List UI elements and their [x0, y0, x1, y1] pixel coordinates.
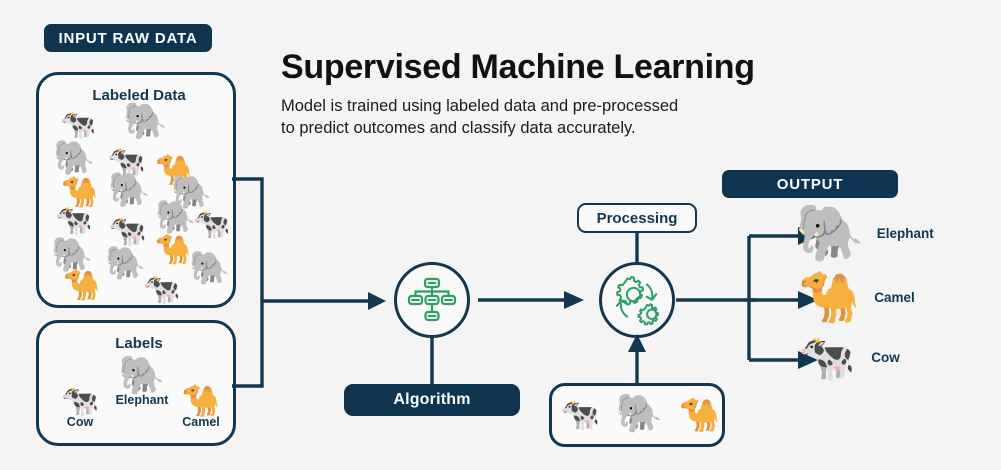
output-item-elephant-label: Elephant [877, 226, 934, 241]
label-item-cow-label: Cow [45, 415, 115, 429]
cow-icon: 🐄 [143, 275, 180, 305]
gears-icon [609, 272, 665, 328]
camel-icon: 🐪 [63, 271, 100, 301]
page-subtitle-line-2: to predict outcomes and classify data ac… [281, 118, 861, 140]
output-item-camel-label: Camel [874, 290, 915, 305]
cow-icon: 🐄 [560, 398, 600, 430]
elephant-icon: 🐘 [108, 173, 150, 207]
labels-panel: Labels 🐘 Elephant 🐄 Cow 🐪 Camel [36, 320, 236, 446]
elephant-icon: 🐘 [105, 246, 146, 279]
test-data-panel: 🐄 🐘 🐪 [549, 383, 725, 447]
hierarchy-icon [406, 274, 458, 326]
elephant-icon: 🐘 [51, 238, 93, 272]
output-item-cow-label: Cow [871, 350, 900, 365]
algorithm-label: Algorithm [393, 391, 470, 409]
algorithm-stem [428, 336, 436, 388]
cow-icon: 🐄 [193, 210, 230, 240]
camel-icon: 🐪 [798, 272, 860, 322]
elephant-icon: 🐘 [616, 395, 663, 433]
elephant-icon: 🐘 [53, 141, 95, 175]
cow-icon: 🐄 [798, 334, 855, 380]
test-data-animals: 🐄 🐘 🐪 [552, 395, 728, 433]
label-item-camel: 🐪 Camel [166, 385, 236, 429]
cow-icon: 🐄 [45, 385, 115, 416]
label-item-cow: 🐄 Cow [45, 385, 115, 429]
processing-label-pill: Processing [577, 203, 697, 233]
cow-icon: 🐄 [55, 206, 92, 236]
processing-node[interactable] [599, 262, 675, 338]
camel-icon: 🐪 [679, 398, 720, 431]
cow-icon: 🐄 [60, 111, 96, 140]
algorithm-label-pill: Algorithm [344, 384, 520, 416]
labels-title: Labels [39, 335, 239, 352]
elephant-icon: 🐘 [795, 205, 865, 261]
labeled-data-panel: Labeled Data 🐄🐘🐘🐄🐪🐪🐘🐘🐄🐄🐘🐄🐘🐘🐪🐘🐪🐄 [36, 72, 236, 308]
camel-icon: 🐪 [166, 385, 236, 416]
page-subtitle-line-1: Model is trained using labeled data and … [281, 96, 861, 118]
elephant-icon: 🐘 [155, 200, 196, 233]
output-badge-label: OUTPUT [777, 176, 843, 193]
page-title: Supervised Machine Learning [281, 48, 755, 87]
processing-stem [633, 232, 641, 264]
label-item-camel-label: Camel [166, 415, 236, 429]
input-raw-data-badge-label: INPUT RAW DATA [59, 30, 198, 47]
algorithm-node[interactable] [394, 262, 470, 338]
output-item-cow: 🐄 Cow [798, 334, 988, 380]
processing-label: Processing [597, 210, 678, 227]
elephant-icon: 🐘 [123, 103, 168, 139]
output-item-elephant: 🐘 Elephant [795, 205, 985, 261]
page-subtitle: Model is trained using labeled data and … [281, 96, 861, 140]
elephant-icon: 🐘 [189, 251, 230, 284]
cow-icon: 🐄 [108, 215, 147, 246]
test-data-up-arrow [625, 334, 649, 386]
labeled-data-animal-cloud: 🐄🐘🐘🐄🐪🐪🐘🐘🐄🐄🐘🐄🐘🐘🐪🐘🐪🐄 [39, 75, 239, 311]
output-item-camel: 🐪 Camel [798, 272, 988, 322]
camel-icon: 🐪 [155, 236, 191, 265]
algorithm-to-processing-arrow [478, 288, 588, 312]
diagram-canvas: INPUT RAW DATA Labeled Data 🐄🐘🐘🐄🐪🐪🐘🐘🐄🐄🐘🐄… [0, 0, 1001, 470]
input-to-algorithm-connector [230, 175, 390, 390]
output-badge: OUTPUT [722, 170, 898, 198]
input-raw-data-badge: INPUT RAW DATA [44, 24, 212, 52]
